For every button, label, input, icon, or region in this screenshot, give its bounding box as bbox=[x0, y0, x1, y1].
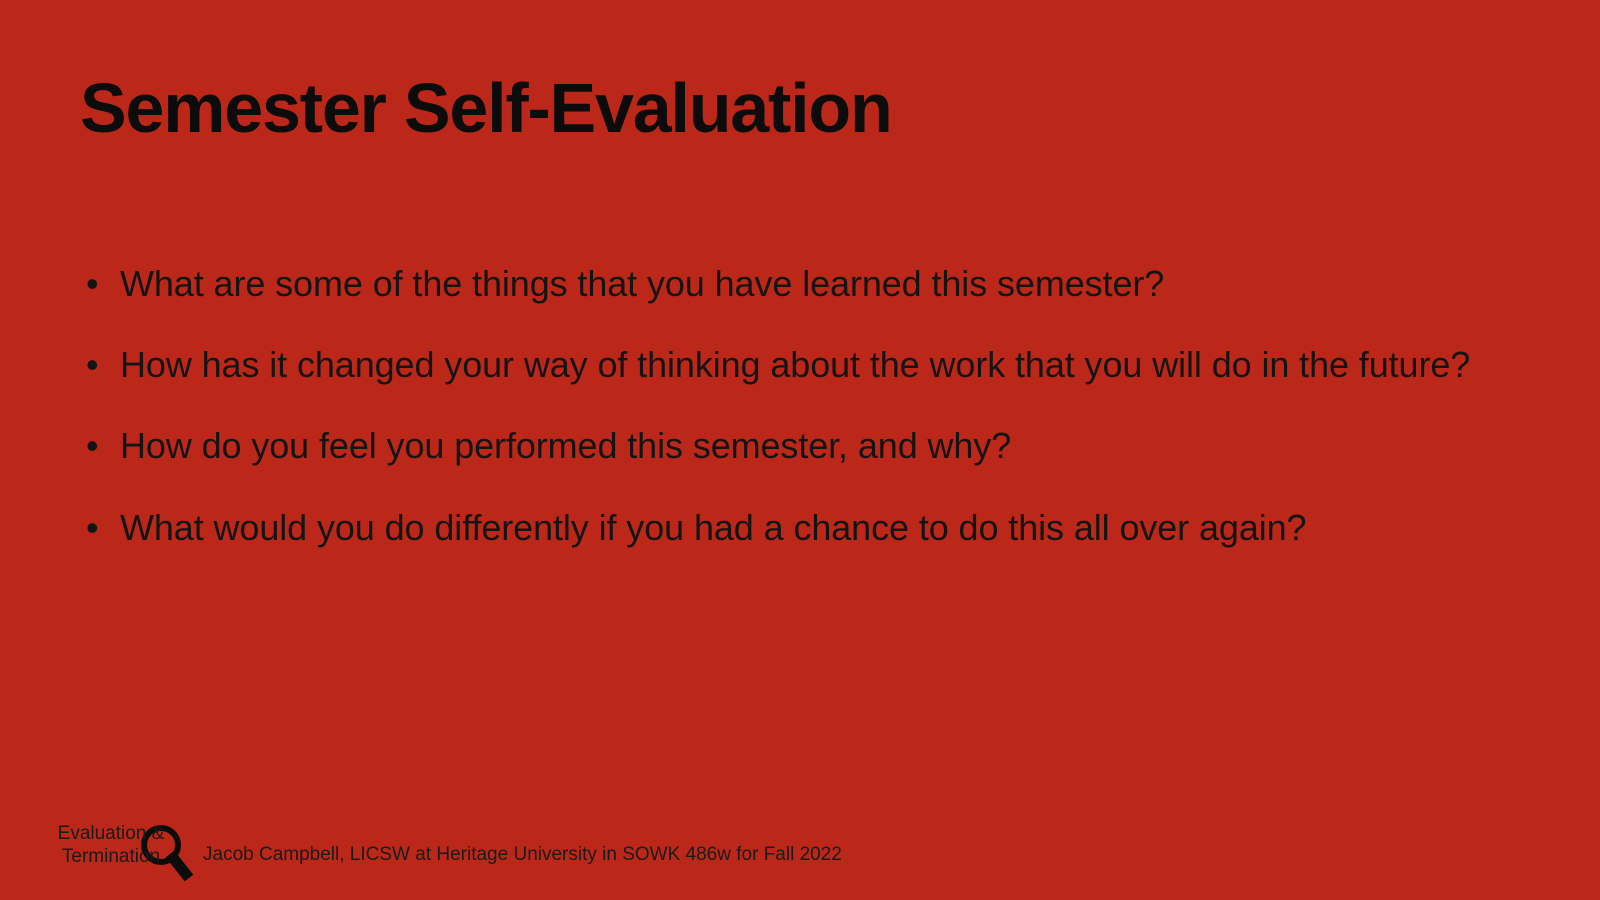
list-item: • What are some of the things that you h… bbox=[80, 262, 1480, 305]
footer-topic-line-1: Evaluation & bbox=[36, 822, 186, 845]
list-item-text: How has it changed your way of thinking … bbox=[120, 343, 1480, 386]
list-item-text: How do you feel you performed this semes… bbox=[120, 424, 1480, 467]
footer-topic-label: Evaluation & Termination bbox=[36, 822, 186, 868]
bullet-marker-icon: • bbox=[86, 506, 106, 549]
list-item: • What would you do differently if you h… bbox=[80, 506, 1480, 549]
list-item-text: What would you do differently if you had… bbox=[120, 506, 1480, 549]
slide-canvas: Semester Self-Evaluation • What are some… bbox=[0, 0, 1600, 900]
list-item: • How do you feel you performed this sem… bbox=[80, 424, 1480, 467]
bullet-marker-icon: • bbox=[86, 343, 106, 386]
bullet-marker-icon: • bbox=[86, 424, 106, 467]
slide-footer: Evaluation & Termination Jacob Campbell,… bbox=[0, 804, 1600, 900]
list-item-text: What are some of the things that you hav… bbox=[120, 262, 1480, 305]
footer-attribution: Jacob Campbell, LICSW at Heritage Univer… bbox=[203, 844, 842, 867]
bullet-marker-icon: • bbox=[86, 262, 106, 305]
list-item: • How has it changed your way of thinkin… bbox=[80, 343, 1480, 386]
bullet-list: • What are some of the things that you h… bbox=[80, 262, 1480, 549]
footer-topic-line-2: Termination bbox=[36, 845, 186, 868]
page-title: Semester Self-Evaluation bbox=[80, 72, 1520, 145]
